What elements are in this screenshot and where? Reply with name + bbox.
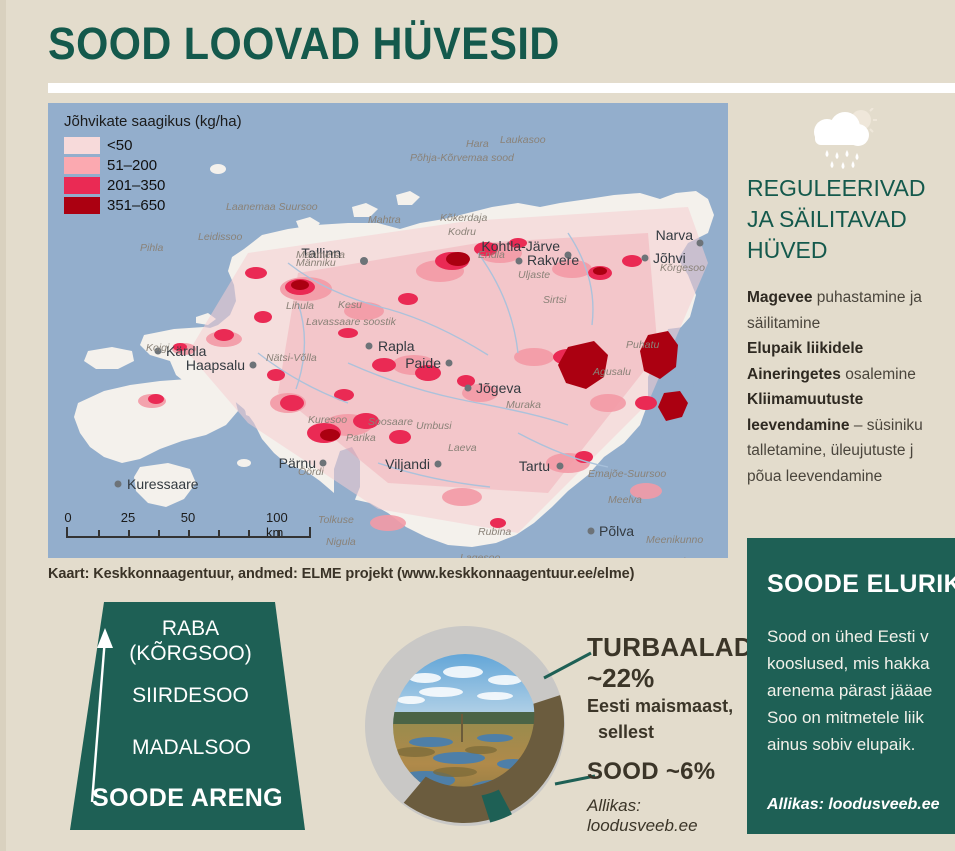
- benefit-line: säilitamine: [747, 311, 955, 337]
- biodiversity-source: Allikas: loodusveeb.ee: [767, 796, 940, 814]
- svg-text:Põlva: Põlva: [599, 523, 634, 539]
- svg-text:Muraka: Muraka: [506, 399, 541, 411]
- legend-swatch-3: [64, 177, 100, 194]
- rain-cloud-icon: [803, 108, 879, 170]
- benefit-line: Magevee puhastamine ja: [747, 285, 955, 311]
- svg-text:Mahtra: Mahtra: [368, 214, 401, 226]
- legend-title: Jõhvikate saagikus (kg/ha): [64, 113, 242, 130]
- svg-text:Sirtsi: Sirtsi: [543, 294, 567, 306]
- benefit-line: talletamine, üleujutuste j: [747, 438, 955, 464]
- mire-diagram-footer: SOODE ARENG: [70, 784, 305, 813]
- right-panel-body: Magevee puhastamine ja säilitamine Elupa…: [747, 285, 955, 489]
- benefit-line: Kliimamuutuste: [747, 387, 955, 413]
- svg-text:Rakvere: Rakvere: [527, 252, 579, 268]
- biodiversity-body: Sood on ühed Eesti v kooslused, mis hakk…: [767, 623, 955, 758]
- svg-text:Agusalu: Agusalu: [592, 366, 631, 378]
- biodiversity-box: SOODE ELURIKK Sood on ühed Eesti v koosl…: [747, 538, 955, 834]
- mire-stage-siirdesoo: SIIRDESOO: [88, 684, 293, 708]
- svg-text:Uljaste: Uljaste: [518, 269, 550, 281]
- legend-swatch-1: [64, 137, 100, 154]
- benefit-text: – süsiniku: [850, 417, 923, 434]
- left-edge-rail: [0, 0, 6, 851]
- benefit-term: Elupaik liikidele: [747, 340, 863, 357]
- svg-text:Kuressaare: Kuressaare: [127, 476, 199, 492]
- svg-text:Kesu: Kesu: [338, 299, 362, 311]
- chart-sub-line1: Eesti maismaast,: [587, 696, 733, 717]
- chart-source: Allikas: loodusveeb.ee: [587, 796, 740, 836]
- biodiversity-title: SOODE ELURIKK: [767, 570, 955, 599]
- scale-tick-25: 25: [121, 510, 135, 525]
- svg-text:Paide: Paide: [405, 355, 441, 371]
- svg-text:Umbusi: Umbusi: [416, 420, 452, 432]
- svg-text:Kuresoo: Kuresoo: [308, 414, 347, 426]
- chart-label-turbaalad: TURBAALAD: [587, 632, 753, 663]
- svg-text:Laukasoo: Laukasoo: [500, 134, 546, 146]
- svg-text:Soosaare: Soosaare: [368, 416, 413, 428]
- biodiversity-line: ainus sobiv elupaik.: [767, 731, 955, 758]
- scale-tick-50: 50: [181, 510, 195, 525]
- benefit-text: osalemine: [841, 366, 916, 383]
- benefit-line: põua leevendamine: [747, 464, 955, 490]
- infographic-page: SOOD LOOVAD HÜVESID: [0, 0, 955, 851]
- svg-text:Tedremäe: Tedremäe: [668, 556, 715, 558]
- map-panel[interactable]: Tallinn Rakvere Kohtla-Järve Jõhvi Narva…: [48, 103, 728, 558]
- benefit-term: Magevee: [747, 289, 812, 306]
- leader-line-turbaalad: [544, 653, 591, 678]
- svg-text:Leidissoo: Leidissoo: [198, 231, 243, 243]
- svg-text:Kodru: Kodru: [448, 226, 476, 238]
- right-panel-heading: REGULEERIVAD JA SÄILITAVAD HÜVED: [747, 173, 955, 266]
- biodiversity-line: Sood on ühed Eesti v: [767, 623, 955, 650]
- benefit-term: leevendamine: [747, 417, 850, 434]
- legend-item: <50: [64, 136, 242, 155]
- svg-text:Lihula: Lihula: [286, 300, 314, 312]
- svg-text:Lagesoo: Lagesoo: [460, 552, 500, 558]
- svg-text:Rapla: Rapla: [378, 338, 415, 354]
- legend-label-1: <50: [107, 137, 132, 154]
- svg-text:Öördi: Öördi: [298, 466, 324, 478]
- svg-text:Viljandi: Viljandi: [385, 456, 430, 472]
- chart-sub-line2: sellest: [598, 722, 654, 743]
- benefit-line: Aineringetes osalemine: [747, 362, 955, 388]
- legend-label-4: 351–650: [107, 197, 165, 214]
- benefit-term: Aineringetes: [747, 366, 841, 383]
- mire-stage-raba: RABA(KÕRGSOO): [98, 616, 283, 666]
- svg-text:Jõgeva: Jõgeva: [476, 380, 521, 396]
- svg-text:Haapsalu: Haapsalu: [186, 357, 245, 373]
- map-scale-bar: 0 25 50 100 km: [66, 510, 311, 538]
- scale-tick-0: 0: [64, 510, 71, 525]
- legend-swatch-4: [64, 197, 100, 214]
- svg-text:Hara: Hara: [466, 138, 489, 150]
- svg-text:Endla: Endla: [478, 249, 505, 261]
- legend-label-3: 201–350: [107, 177, 165, 194]
- benefit-line: leevendamine – süsiniku: [747, 413, 955, 439]
- biodiversity-line: Soo on mitmetele liik: [767, 704, 955, 731]
- svg-text:Nigula: Nigula: [326, 536, 356, 548]
- svg-text:Meenikunno: Meenikunno: [646, 534, 703, 546]
- heading-line-1: REGULEERIVAD: [747, 173, 955, 204]
- biodiversity-line: kooslused, mis hakka: [767, 650, 955, 677]
- svg-text:Põhja-Kõrvemaa sood: Põhja-Kõrvemaa sood: [410, 152, 515, 164]
- chart-label-sood: SOOD ~6%: [587, 758, 715, 786]
- svg-text:Puhatu: Puhatu: [626, 339, 659, 351]
- legend-item: 51–200: [64, 156, 242, 175]
- benefit-line: Elupaik liikidele: [747, 336, 955, 362]
- legend-label-2: 51–200: [107, 157, 157, 174]
- map-legend: Jõhvikate saagikus (kg/ha) <50 51–200 20…: [64, 113, 242, 216]
- svg-text:Lavassaare soostik: Lavassaare soostik: [306, 316, 397, 328]
- svg-text:Laeva: Laeva: [448, 442, 477, 454]
- svg-text:Nätsi-Võlla: Nätsi-Võlla: [266, 352, 317, 364]
- svg-text:Kõkerdaja: Kõkerdaja: [440, 212, 487, 224]
- svg-text:Emajõe-Suursoo: Emajõe-Suursoo: [588, 468, 666, 480]
- svg-text:Narva: Narva: [656, 227, 694, 243]
- legend-item: 351–650: [64, 196, 242, 215]
- peatland-donut-chart: TURBAALAD ~22% Eesti maismaast, sellest …: [355, 618, 740, 838]
- svg-text:Tartu: Tartu: [519, 458, 550, 474]
- heading-line-2: JA SÄILITAVAD: [747, 204, 955, 235]
- benefit-term: Kliimamuutuste: [747, 391, 863, 408]
- mire-development-diagram: RABA(KÕRGSOO) SIIRDESOO MADALSOO SOODE A…: [70, 602, 305, 830]
- benefit-text: puhastamine ja: [812, 289, 921, 306]
- svg-text:Parika: Parika: [346, 432, 376, 444]
- title-divider: [48, 83, 955, 93]
- map-caption: Kaart: Keskkonnaagentuur, andmed: ELME p…: [48, 566, 634, 582]
- legend-item: 201–350: [64, 176, 242, 195]
- svg-text:Kõrgesoo: Kõrgesoo: [660, 262, 705, 274]
- chart-value-turbaalad: ~22%: [587, 663, 654, 694]
- mire-stage-madalsoo: MADALSOO: [84, 736, 299, 760]
- page-title: SOOD LOOVAD HÜVESID: [48, 18, 560, 70]
- legend-swatch-2: [64, 157, 100, 174]
- svg-text:Meelva: Meelva: [608, 494, 642, 506]
- heading-line-3: HÜVED: [747, 235, 955, 266]
- svg-text:Koigi: Koigi: [146, 342, 170, 354]
- scale-line: [66, 527, 311, 538]
- svg-text:Pihla: Pihla: [140, 242, 164, 254]
- biodiversity-line: arenema pärast jääae: [767, 677, 955, 704]
- svg-text:Tolkuse: Tolkuse: [318, 514, 354, 526]
- svg-text:Marimetsa: Marimetsa: [296, 249, 345, 261]
- svg-text:Rubina: Rubina: [478, 526, 511, 538]
